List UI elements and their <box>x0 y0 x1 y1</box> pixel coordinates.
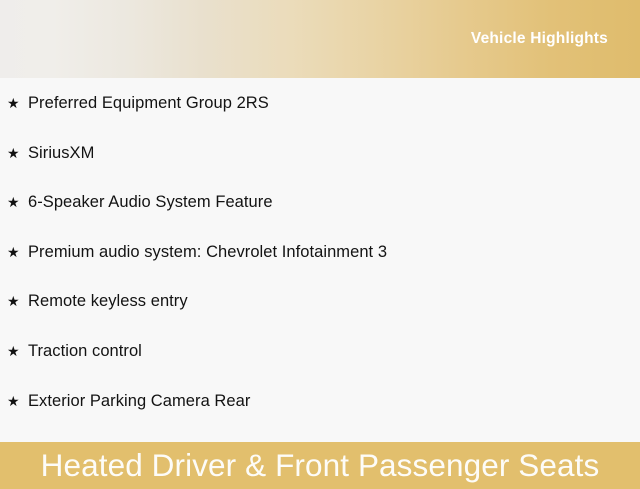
list-item[interactable]: ★ 6-Speaker Audio System Feature <box>0 194 640 244</box>
footer-headline: Heated Driver & Front Passenger Seats <box>41 450 600 482</box>
highlights-section: ★ Preferred Equipment Group 2RS ★ Sirius… <box>0 78 640 442</box>
list-item[interactable]: ★ Remote keyless entry <box>0 293 640 343</box>
list-item-label: Preferred Equipment Group 2RS <box>28 95 640 112</box>
star-bullet-icon: ★ <box>7 344 28 358</box>
header-banner: Vehicle Highlights <box>0 0 640 78</box>
star-bullet-icon: ★ <box>7 195 28 209</box>
vehicle-highlights-panel: Vehicle Highlights ★ Preferred Equipment… <box>0 0 640 480</box>
star-bullet-icon: ★ <box>7 294 28 308</box>
list-item-label: Premium audio system: Chevrolet Infotain… <box>28 244 640 261</box>
list-item-label: Exterior Parking Camera Rear <box>28 393 640 410</box>
list-item-label: 6-Speaker Audio System Feature <box>28 194 640 211</box>
list-item[interactable]: ★ Exterior Parking Camera Rear <box>0 393 640 443</box>
star-bullet-icon: ★ <box>7 245 28 259</box>
star-bullet-icon: ★ <box>7 146 28 160</box>
page-title: Vehicle Highlights <box>471 31 608 47</box>
highlights-list: ★ Preferred Equipment Group 2RS ★ Sirius… <box>0 78 640 442</box>
footer-banner: Heated Driver & Front Passenger Seats <box>0 442 640 489</box>
list-item-label: Traction control <box>28 343 640 360</box>
list-item[interactable]: ★ Premium audio system: Chevrolet Infota… <box>0 244 640 294</box>
list-item[interactable]: ★ Preferred Equipment Group 2RS <box>0 95 640 145</box>
list-item[interactable]: ★ Traction control <box>0 343 640 393</box>
list-item[interactable]: ★ SiriusXM <box>0 145 640 195</box>
star-bullet-icon: ★ <box>7 96 28 110</box>
list-item-label: Remote keyless entry <box>28 293 640 310</box>
star-bullet-icon: ★ <box>7 394 28 408</box>
list-item-label: SiriusXM <box>28 145 640 162</box>
